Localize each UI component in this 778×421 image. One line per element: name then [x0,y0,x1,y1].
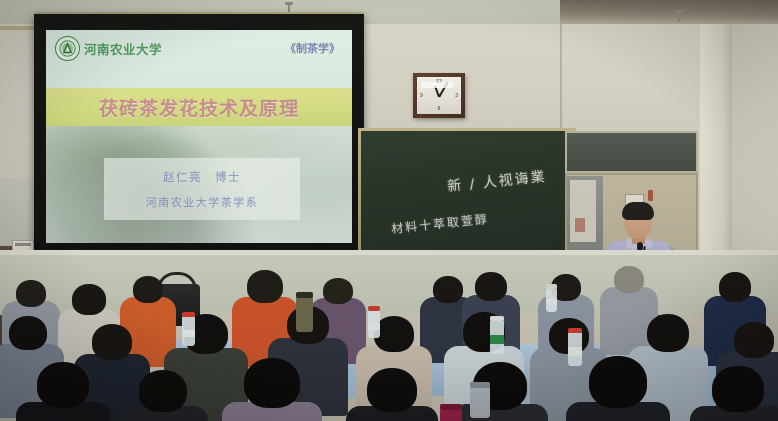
ceiling-hook-icon [678,12,680,22]
clock-glass-glare [421,82,453,88]
audience-member-head [647,314,689,352]
presenter-hair [622,202,654,220]
audience-member-head [374,316,414,352]
slide-speaker-name: 赵仁亮 博士 [163,169,241,185]
slide-title-band: 茯砖茶发花技术及原理 [46,88,352,126]
audience-member-head [614,266,644,293]
audience-member [16,362,110,421]
audience-member-head [16,280,46,307]
clock-center-dot [438,94,441,97]
audience-member-head [475,272,507,301]
ceiling-shadow-right [560,0,778,24]
clock-face: 12 3 6 9 [417,77,461,114]
audience-member [346,368,438,421]
slide-credit-box: 赵仁亮 博士 河南农业大学茶学系 [104,158,300,220]
audience-member-head [72,284,106,315]
audience-member-head [433,276,463,303]
wall-pillar [700,24,732,274]
water-bottle-icon [490,320,504,354]
slide-course-name: 《制茶学》 [285,40,340,56]
audience-member [452,362,548,421]
audience-member-head [247,270,283,303]
audience-member-head [734,322,774,358]
water-bottle-icon [546,288,557,312]
audience-member-head [244,358,300,408]
thermos-icon [470,386,490,418]
audience-area [0,258,778,421]
audience-member-head [719,272,751,302]
audience-member-head [37,362,89,408]
audience-member-head [323,278,353,304]
water-bottle-icon [568,332,582,366]
audience-member-head [133,276,163,303]
audience-member [566,356,670,421]
audience-member-head [139,370,187,412]
thermos-icon [440,408,462,421]
water-bottle-icon [182,316,195,346]
audience-member-head [367,368,417,412]
clock-number: 3 [455,93,458,99]
clock-number: 6 [438,106,441,112]
audience-member-head [589,356,647,408]
audience-member-head [92,324,132,360]
slide-affiliation: 河南农业大学茶学系 [146,194,259,210]
slide-title: 茯砖茶发花技术及原理 [99,94,299,121]
lecture-hall-screenshot: 河南农业大学 《制茶学》 茯砖茶发花技术及原理 赵仁亮 博士 河南农业大学茶学系… [0,0,778,421]
left-wall-panel-upper [0,28,38,178]
audience-member-head [712,366,764,412]
projected-slide: 河南农业大学 《制茶学》 茯砖茶发花技术及原理 赵仁亮 博士 河南农业大学茶学系 [46,30,352,243]
audience-member-head [9,316,47,350]
projector-screen[interactable]: 河南农业大学 《制茶学》 茯砖茶发花技术及原理 赵仁亮 博士 河南农业大学茶学系 [34,14,364,260]
wall-pillar-far [732,24,778,274]
blackboard-surface: 新 / 人视诲業 材料十萃取萱醇 [361,131,573,251]
thermos-icon [296,296,313,332]
hau-crest-icon [55,36,80,61]
clock-number: 9 [420,93,423,99]
audience-member [690,366,778,421]
audience-member [222,358,322,421]
blackboard[interactable]: 新 / 人视诲業 材料十萃取萱醇 [358,128,576,254]
chalk-line-2: 材料十萃取萱醇 [390,210,489,237]
left-wall-panel-lower [0,178,36,248]
slide-university-name: 河南农业大学 [84,39,162,58]
water-bottle-icon [368,310,380,338]
audience-member [118,370,208,421]
chalk-line-1: 新 / 人视诲業 [446,166,547,196]
wall-clock: 12 3 6 9 [413,73,465,118]
door-transom-window [565,131,698,173]
